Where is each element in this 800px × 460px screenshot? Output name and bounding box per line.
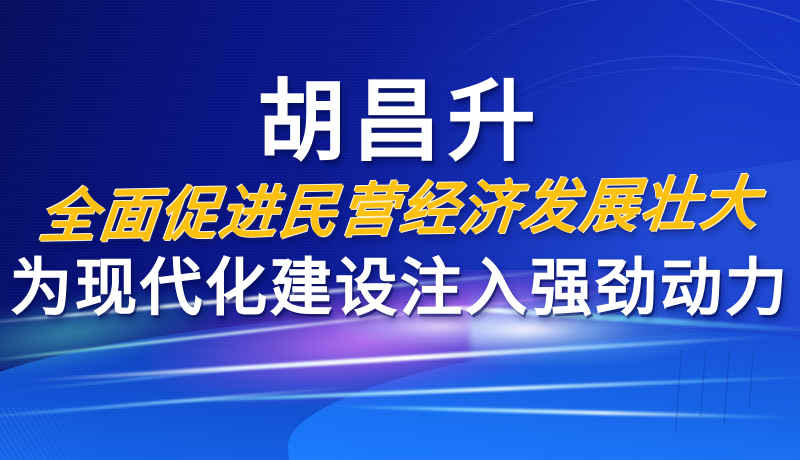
news-banner: 胡昌升 全面促进民营经济发展壮大 为现代化建设注入强劲动力	[0, 0, 800, 460]
tagline-text: 为现代化建设注入强劲动力	[10, 258, 790, 320]
slogan-calligraphy: 全面促进民营经济发展壮大	[36, 175, 764, 247]
person-name-title: 胡昌升	[257, 78, 542, 166]
headline-block: 胡昌升 全面促进民营经济发展壮大 为现代化建设注入强劲动力	[0, 0, 800, 460]
